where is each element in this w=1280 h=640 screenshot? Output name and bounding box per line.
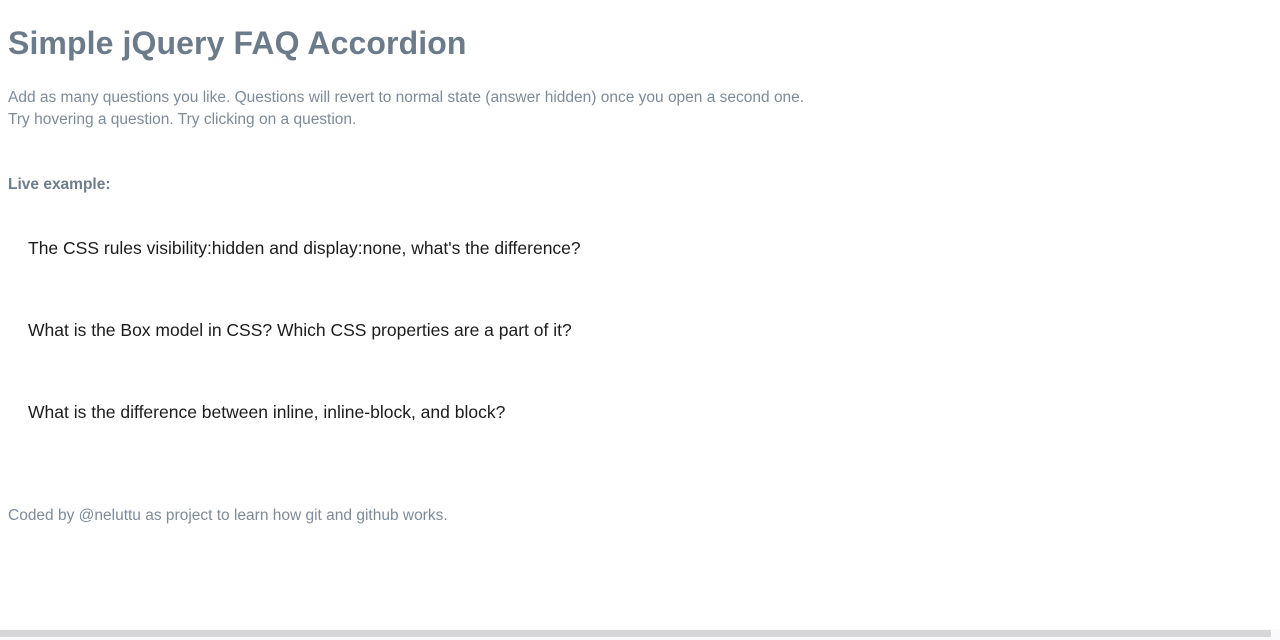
faq-question-2[interactable]: What is the Box model in CSS? Which CSS …: [8, 294, 1272, 342]
faq-accordion-list: The CSS rules visibility:hidden and disp…: [8, 212, 1272, 458]
page-title: Simple jQuery FAQ Accordion: [8, 23, 467, 63]
horizontal-scrollbar[interactable]: [0, 629, 1280, 640]
faq-question-1[interactable]: The CSS rules visibility:hidden and disp…: [8, 212, 1272, 260]
live-example-heading: Live example:: [8, 174, 111, 195]
intro-paragraph: Add as many questions you like. Question…: [8, 87, 804, 131]
footer-credit: Coded by @neluttu as project to learn ho…: [8, 505, 448, 527]
faq-item[interactable]: What is the Box model in CSS? Which CSS …: [8, 294, 1272, 376]
page-root: Simple jQuery FAQ Accordion Add as many …: [0, 0, 1280, 640]
intro-line-1: Add as many questions you like. Question…: [8, 87, 804, 109]
horizontal-scrollbar-thumb[interactable]: [0, 630, 1271, 637]
faq-item[interactable]: The CSS rules visibility:hidden and disp…: [8, 212, 1272, 294]
intro-line-2: Try hovering a question. Try clicking on…: [8, 109, 804, 131]
faq-question-3[interactable]: What is the difference between inline, i…: [8, 376, 1272, 424]
faq-item[interactable]: What is the difference between inline, i…: [8, 376, 1272, 458]
